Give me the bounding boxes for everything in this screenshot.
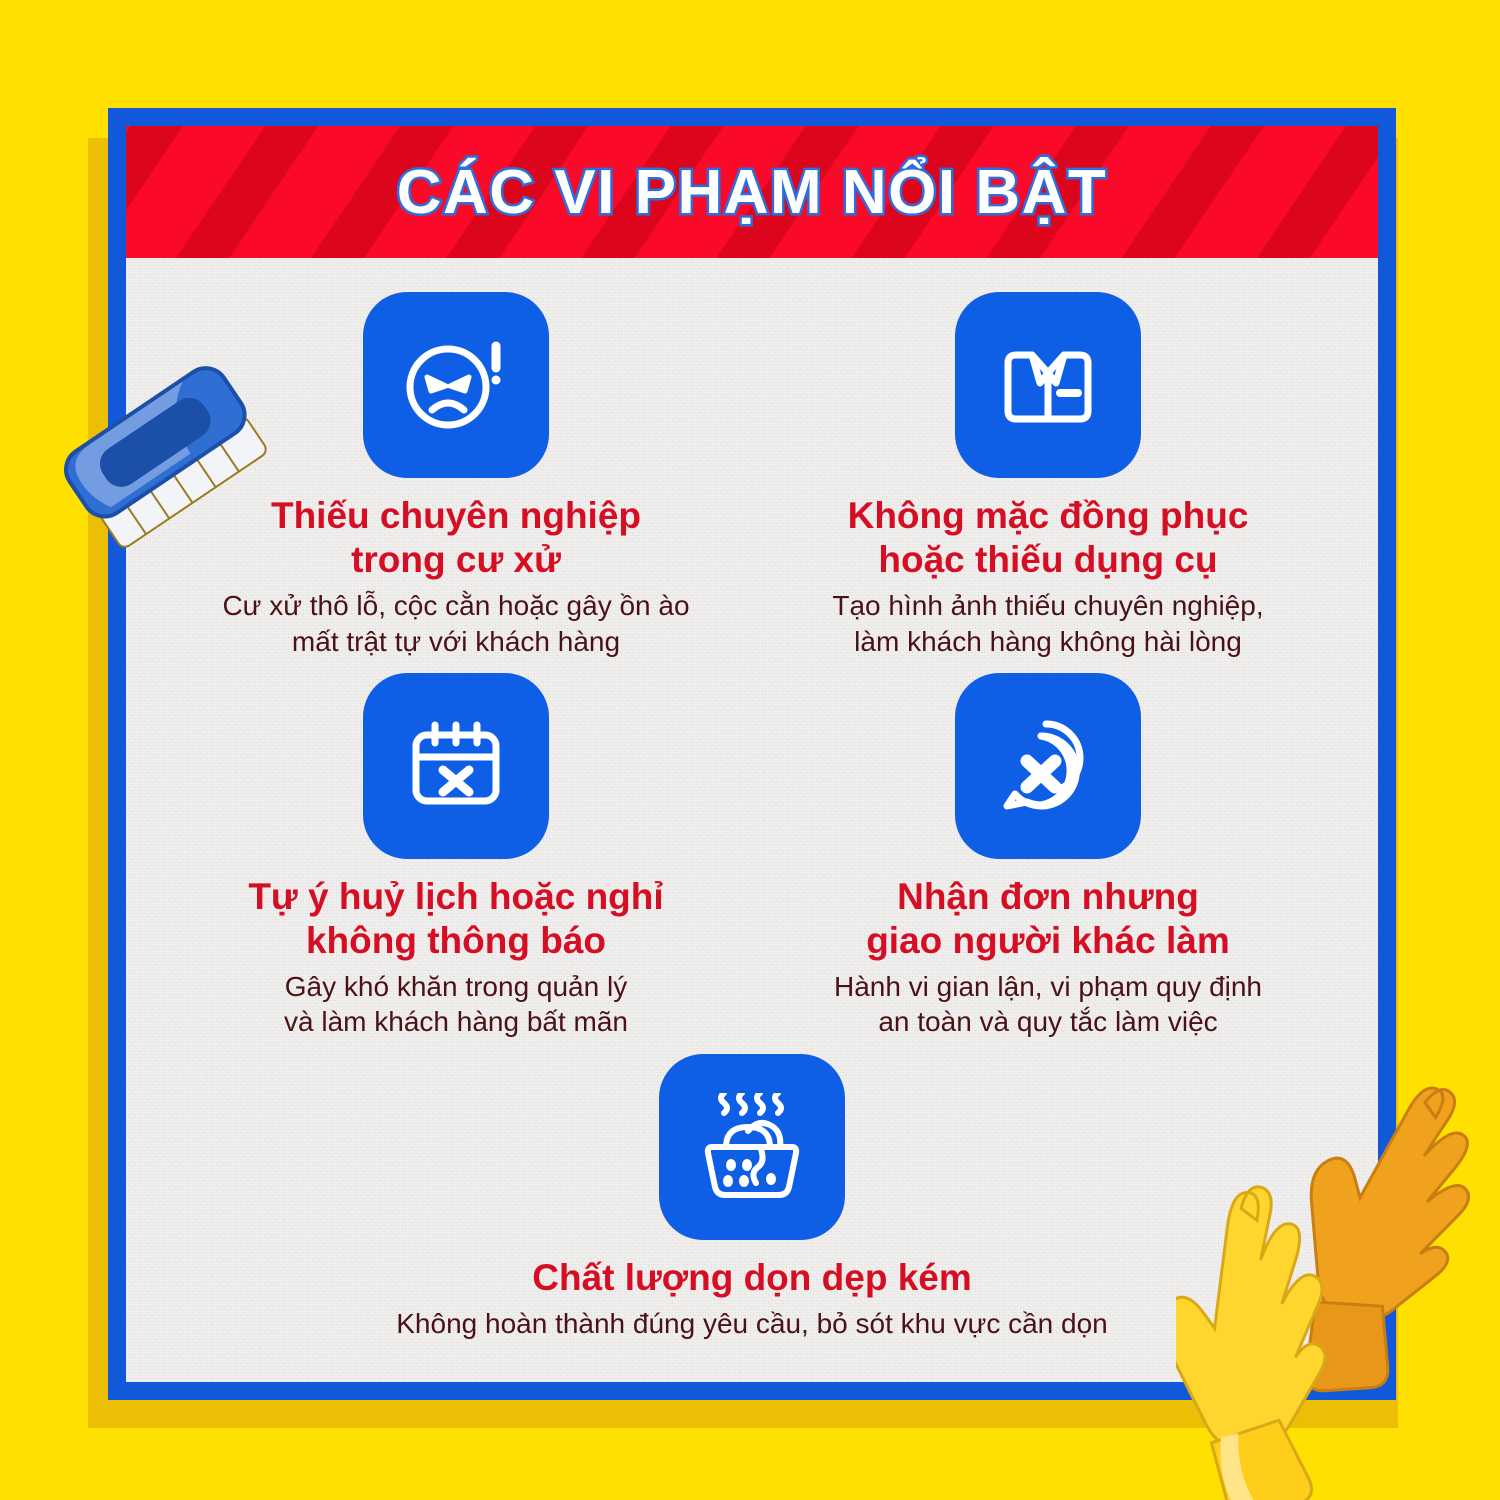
card-title-line: giao người khác làm	[866, 920, 1230, 961]
card-desc-line: an toàn và quy tắc làm việc	[878, 1006, 1217, 1037]
violation-card-4: Nhận đơn nhưng giao người khác làm Hành …	[752, 673, 1344, 1040]
laundry-basket-icon	[698, 1093, 806, 1201]
card-title-line: không thông báo	[306, 920, 606, 961]
violation-card-1: Thiếu chuyên nghiệp trong cư xử Cư xử th…	[160, 292, 752, 659]
card-desc-line: và làm khách hàng bất mãn	[284, 1006, 628, 1037]
calendar-cancel-icon	[403, 713, 509, 819]
blue-frame: CÁC VI PHẠM NỔI BẬT	[108, 108, 1396, 1400]
infographic-poster: CÁC VI PHẠM NỔI BẬT	[0, 0, 1500, 1500]
card-desc-line: làm khách hàng không hài lòng	[854, 626, 1242, 657]
page-title: CÁC VI PHẠM NỔI BẬT	[397, 157, 1108, 228]
folded-shirt-tile	[955, 292, 1141, 478]
violation-card-2: Không mặc đồng phục hoặc thiếu dụng cụ T…	[752, 292, 1344, 659]
calendar-cancel-tile	[363, 673, 549, 859]
banner: CÁC VI PHẠM NỔI BẬT	[126, 126, 1378, 258]
chat-bubble-cancel-tile	[955, 673, 1141, 859]
card-title-line: trong cư xử	[351, 539, 561, 580]
card-desc-line: Gây khó khăn trong quản lý	[285, 971, 627, 1002]
card-title-line: Không mặc đồng phục	[848, 495, 1249, 536]
paper-sheet: CÁC VI PHẠM NỔI BẬT	[126, 126, 1378, 1382]
card-title: Chất lượng dọn dẹp kém	[532, 1256, 972, 1300]
laundry-basket-tile	[659, 1054, 845, 1240]
card-desc-line: Cư xử thô lỗ, cộc cằn hoặc gây ồn ào	[222, 590, 689, 621]
card-description: Cư xử thô lỗ, cộc cằn hoặc gây ồn ào mất…	[222, 588, 689, 659]
violations-grid: Thiếu chuyên nghiệp trong cư xử Cư xử th…	[126, 258, 1378, 1342]
violation-card-5: Chất lượng dọn dẹp kém Không hoàn thành …	[160, 1054, 1344, 1342]
card-title: Tự ý huỷ lịch hoặc nghỉ không thông báo	[248, 875, 663, 962]
chat-bubble-cancel-icon	[994, 712, 1102, 820]
card-title-line: Tự ý huỷ lịch hoặc nghỉ	[248, 876, 663, 917]
violation-card-3: Tự ý huỷ lịch hoặc nghỉ không thông báo …	[160, 673, 752, 1040]
card-title-line: Nhận đơn nhưng	[897, 876, 1199, 917]
card-description: Tạo hình ảnh thiếu chuyên nghiệp, làm kh…	[832, 588, 1263, 659]
card-desc-line: Tạo hình ảnh thiếu chuyên nghiệp,	[832, 590, 1263, 621]
card-description: Không hoàn thành đúng yêu cầu, bỏ sót kh…	[396, 1306, 1108, 1341]
card-desc-line: Hành vi gian lận, vi phạm quy định	[834, 971, 1262, 1002]
card-title-line: Thiếu chuyên nghiệp	[271, 495, 641, 536]
card-title: Thiếu chuyên nghiệp trong cư xử	[271, 494, 641, 581]
angry-face-tile	[363, 292, 549, 478]
card-desc-line: mất trật tự với khách hàng	[292, 626, 620, 657]
card-title: Nhận đơn nhưng giao người khác làm	[866, 875, 1230, 962]
angry-face-icon	[401, 330, 511, 440]
card-description: Gây khó khăn trong quản lý và làm khách …	[284, 969, 628, 1040]
card-title-line: hoặc thiếu dụng cụ	[878, 539, 1217, 580]
folded-shirt-icon	[994, 331, 1102, 439]
card-description: Hành vi gian lận, vi phạm quy định an to…	[834, 969, 1262, 1040]
card-title: Không mặc đồng phục hoặc thiếu dụng cụ	[848, 494, 1249, 581]
